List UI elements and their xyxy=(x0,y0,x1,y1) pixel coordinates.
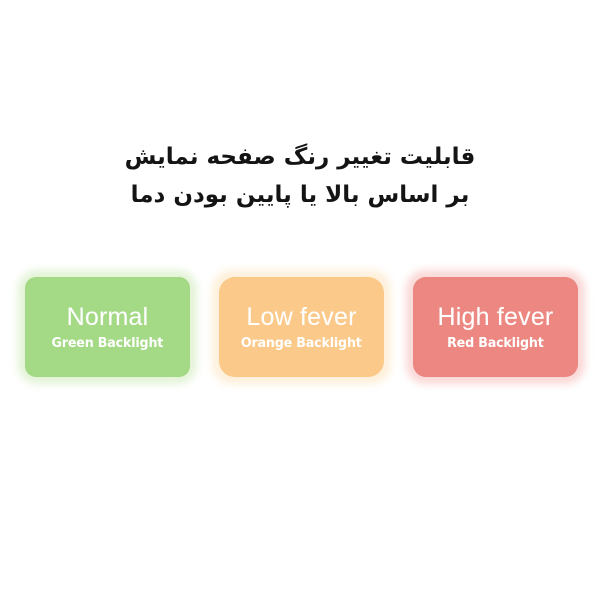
backlight-card-high-fever[interactable]: High fever Red Backlight xyxy=(413,277,578,377)
backlight-card-normal[interactable]: Normal Green Backlight xyxy=(25,277,190,377)
card-title: High fever xyxy=(438,302,554,332)
page-title-line-2: بر اساس بالا یا پایین بودن دما xyxy=(0,176,600,214)
infographic-canvas: قابلیت تغییر رنگ صفحه نمایش بر اساس بالا… xyxy=(0,0,600,600)
card-title: Normal xyxy=(67,302,149,332)
card-subtitle: Orange Backlight xyxy=(241,334,362,352)
card-subtitle: Red Backlight xyxy=(447,334,544,352)
card-content: Low fever Orange Backlight xyxy=(219,302,384,352)
backlight-mode-card-row: Normal Green Backlight Low fever Orange … xyxy=(25,277,578,377)
page-title-line-1: قابلیت تغییر رنگ صفحه نمایش xyxy=(0,138,600,176)
backlight-card-low-fever[interactable]: Low fever Orange Backlight xyxy=(219,277,384,377)
card-subtitle: Green Backlight xyxy=(52,334,164,352)
card-title: Low fever xyxy=(246,302,356,332)
page-title: قابلیت تغییر رنگ صفحه نمایش بر اساس بالا… xyxy=(0,138,600,214)
card-content: High fever Red Backlight xyxy=(413,302,578,352)
card-content: Normal Green Backlight xyxy=(25,302,190,352)
